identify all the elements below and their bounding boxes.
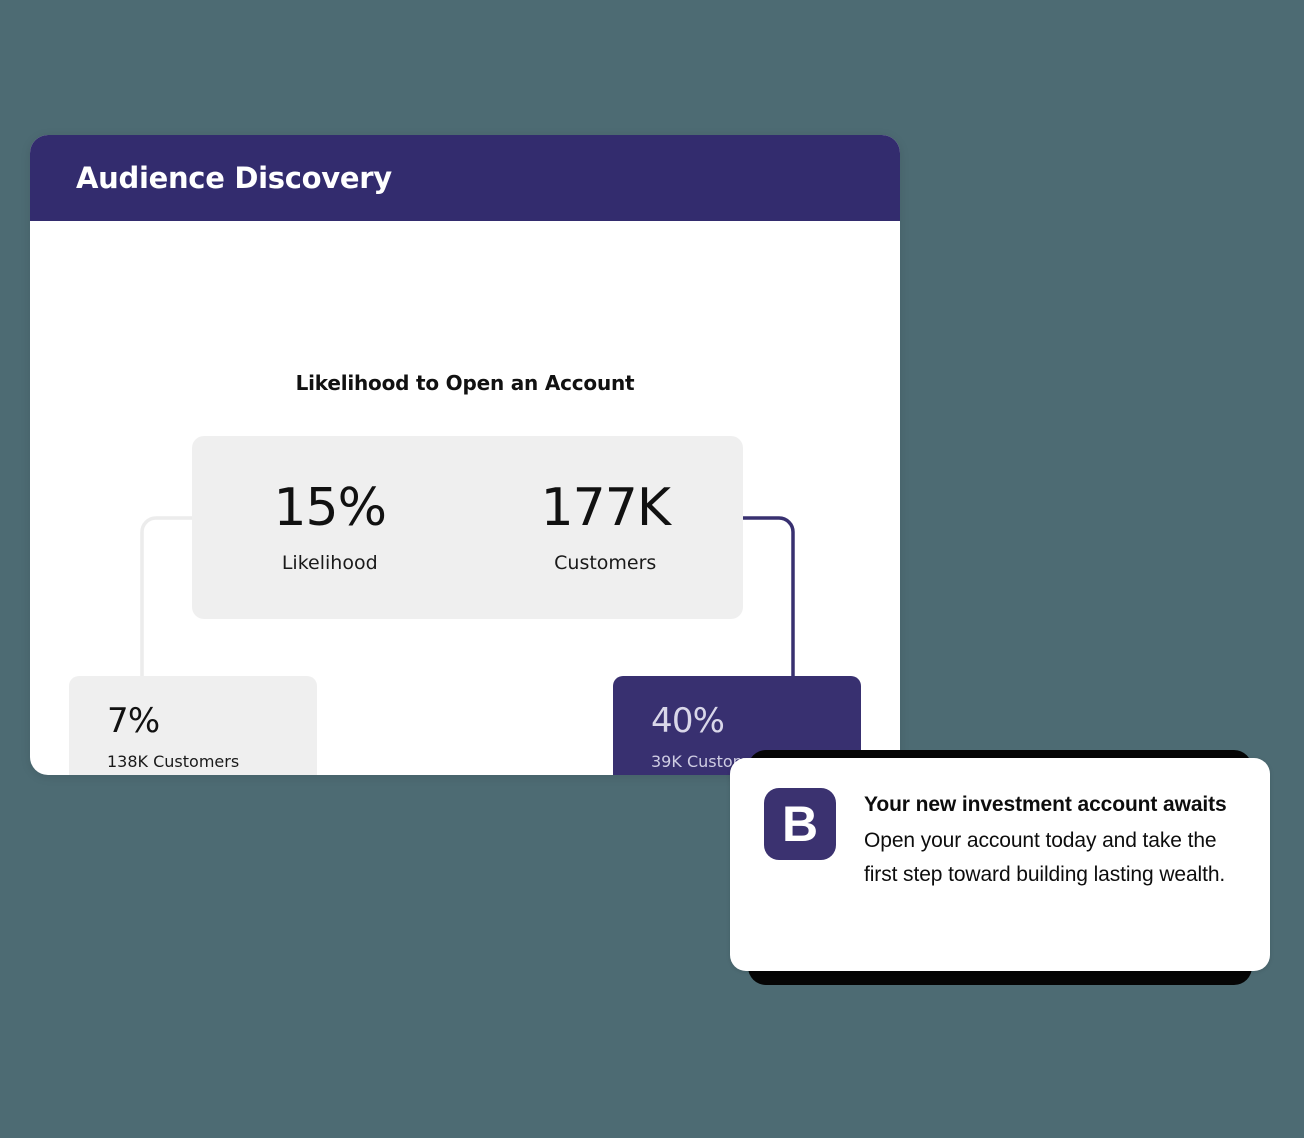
- connector-right-branch: [735, 516, 795, 681]
- root-stat-card[interactable]: 15% Likelihood 177K Customers: [192, 436, 743, 619]
- connector-left-branch: [140, 516, 200, 681]
- notification-card[interactable]: B Your new investment account awaits Ope…: [730, 758, 1270, 971]
- panel-header: Audience Discovery: [30, 135, 900, 221]
- segment-low-value: 7%: [107, 704, 317, 738]
- stat-customers-label: Customers: [468, 552, 744, 574]
- notification-text: Your new investment account awaits Open …: [864, 788, 1242, 971]
- audience-discovery-panel: Audience Discovery Likelihood to Open an…: [30, 135, 900, 775]
- chart-heading: Likelihood to Open an Account: [30, 371, 900, 395]
- segment-high-value: 40%: [651, 704, 861, 738]
- stat-likelihood-label: Likelihood: [192, 552, 468, 574]
- app-icon: B: [764, 788, 836, 860]
- stat-likelihood: 15% Likelihood: [192, 481, 468, 574]
- stat-likelihood-value: 15%: [192, 481, 468, 536]
- segment-card-low-likelihood[interactable]: 7% 138K Customers: [69, 676, 317, 775]
- panel-body: Likelihood to Open an Account 15% Likeli…: [30, 221, 900, 775]
- page-title: Audience Discovery: [76, 164, 392, 193]
- segment-low-customers: 138K Customers: [107, 752, 317, 771]
- stat-customers: 177K Customers: [468, 481, 744, 574]
- notification-title: Your new investment account awaits: [864, 790, 1242, 820]
- notification-body: Open your account today and take the fir…: [864, 824, 1242, 892]
- notification-group: B Your new investment account awaits Ope…: [730, 745, 1270, 990]
- stat-customers-value: 177K: [468, 481, 744, 536]
